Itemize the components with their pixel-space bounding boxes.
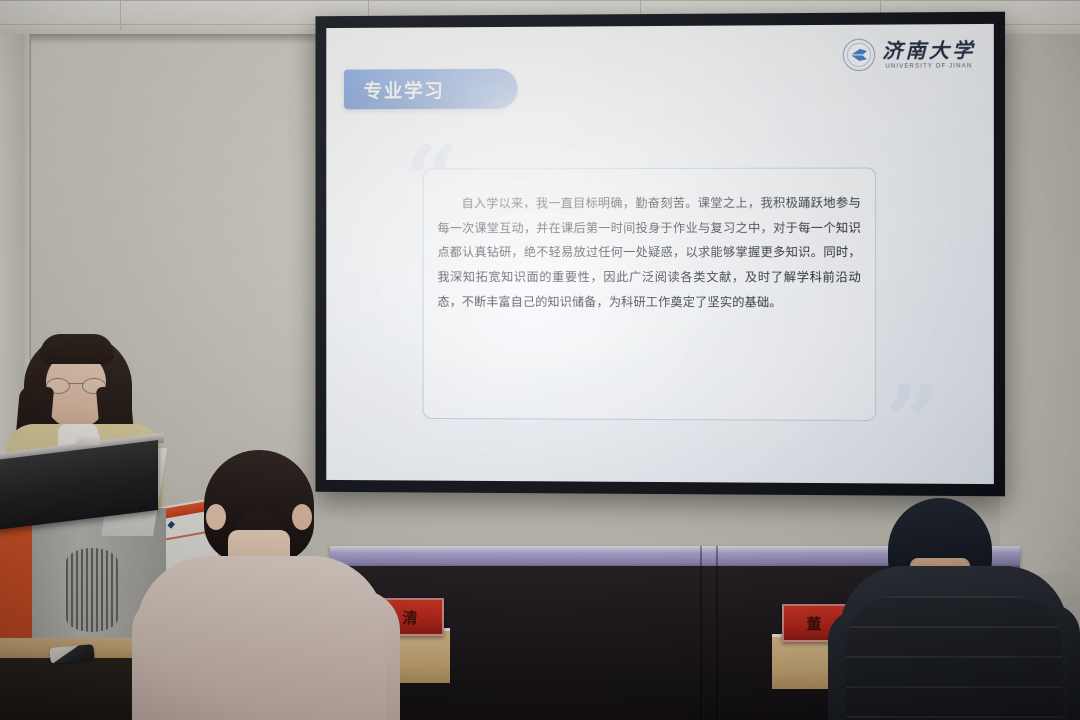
desk-seam-left (700, 546, 702, 720)
audience-center-sweater (136, 556, 386, 720)
university-name-en: UNIVERSITY OF JINAN (885, 63, 972, 69)
classroom-photo-scene: “ ” 专业学习 济南大学 UNIVERSITY OF JINAN 自入学以来，… (0, 0, 1080, 720)
university-seal-icon (843, 39, 875, 71)
speaker-fringe (40, 334, 114, 364)
university-logo: 济南大学 UNIVERSITY OF JINAN (843, 38, 976, 71)
podium-speaker-grille-icon (66, 548, 118, 632)
slide-title-text: 专业学习 (364, 76, 445, 103)
slide-body-paragraph: 自入学以来，我一直目标明确，勤奋刻苦。课堂之上，我积极踊跃地参与每一次课堂互动，… (437, 191, 860, 315)
audience-center-ear-right (292, 504, 312, 530)
right-wall (1000, 34, 1080, 574)
presentation-slide: “ ” 专业学习 济南大学 UNIVERSITY OF JINAN 自入学以来，… (326, 24, 994, 484)
nameplate-1-text: 清 (402, 607, 419, 628)
audience-right-jacket (840, 566, 1068, 720)
slide-content-card: 自入学以来，我一直目标明确，勤奋刻苦。课堂之上，我积极踊跃地参与每一次课堂互动，… (423, 167, 876, 421)
nameplate-2-text: 董 (806, 613, 823, 634)
audience-center-ear-left (206, 504, 226, 530)
desk-seam-right (716, 546, 718, 720)
seal-wave-mark (851, 49, 867, 61)
university-logo-text: 济南大学 UNIVERSITY OF JINAN (882, 40, 975, 70)
university-name-cn: 济南大学 (882, 40, 975, 61)
podium-control-knob[interactable] (76, 434, 100, 445)
slide-title-banner: 专业学习 (344, 69, 518, 110)
slide-body-text: 自入学以来，我一直目标明确，勤奋刻苦。课堂之上，我积极踊跃地参与每一次课堂互动，… (437, 191, 860, 315)
presentation-display: “ ” 专业学习 济南大学 UNIVERSITY OF JINAN 自入学以来，… (315, 12, 1005, 497)
quote-close-decoration: ” (885, 384, 941, 462)
